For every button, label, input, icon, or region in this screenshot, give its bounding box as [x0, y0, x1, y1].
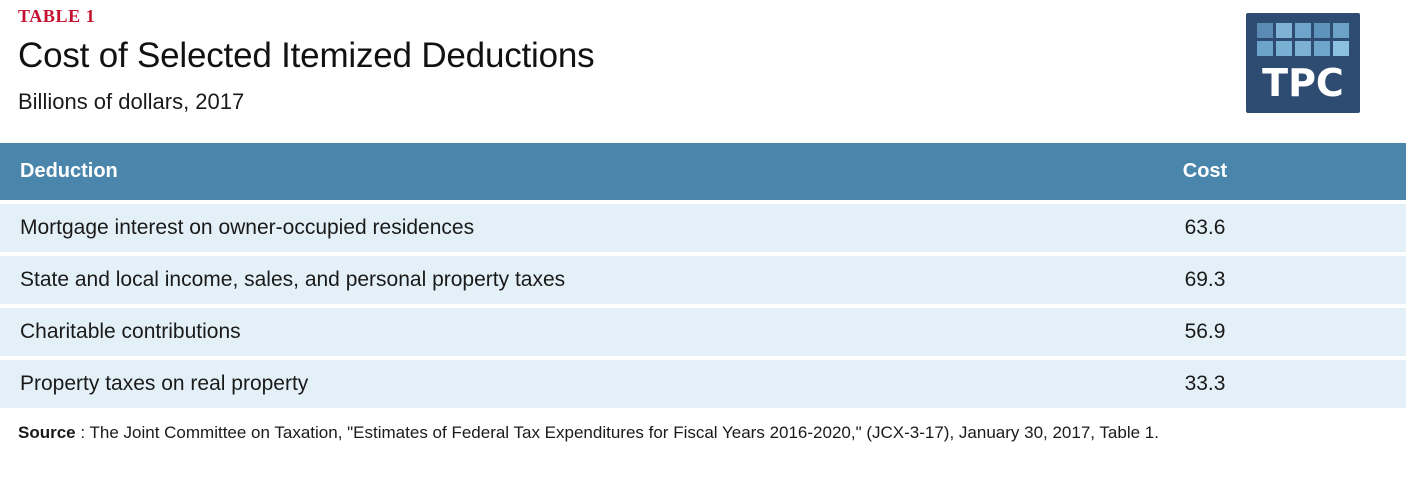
page-title: Cost of Selected Itemized Deductions [18, 36, 594, 76]
logo-grid-cell [1314, 23, 1330, 38]
cell-deduction: State and local income, sales, and perso… [0, 268, 565, 292]
table-row: State and local income, sales, and perso… [0, 256, 1406, 304]
table-body: Mortgage interest on owner-occupied resi… [0, 204, 1406, 408]
logo-grid-cell [1257, 23, 1273, 38]
table-number-label: TABLE 1 [18, 6, 95, 27]
deductions-table: Deduction Cost Mortgage interest on owne… [0, 143, 1406, 408]
table-row: Property taxes on real property33.3 [0, 360, 1406, 408]
cell-cost: 33.3 [1130, 372, 1280, 396]
logo-grid-icon [1257, 23, 1349, 56]
cell-cost: 69.3 [1130, 268, 1280, 292]
source-note: Source : The Joint Committee on Taxation… [18, 419, 1218, 446]
cell-deduction: Property taxes on real property [0, 372, 308, 396]
logo-wordmark: TPC [1246, 61, 1360, 105]
logo-grid-cell [1333, 41, 1349, 56]
logo-grid-cell [1276, 41, 1292, 56]
cell-cost: 63.6 [1130, 216, 1280, 240]
cell-deduction: Mortgage interest on owner-occupied resi… [0, 216, 474, 240]
logo-grid-cell [1333, 23, 1349, 38]
logo-grid-cell [1314, 41, 1330, 56]
table-header-row: Deduction Cost [0, 143, 1406, 200]
column-header-deduction: Deduction [0, 160, 118, 183]
table-row: Mortgage interest on owner-occupied resi… [0, 204, 1406, 252]
logo-grid-cell [1295, 23, 1311, 38]
page-header: TABLE 1 Cost of Selected Itemized Deduct… [0, 0, 1408, 136]
logo-grid-cell [1276, 23, 1292, 38]
logo-grid-cell [1257, 41, 1273, 56]
logo-grid-cell [1295, 41, 1311, 56]
source-text: : The Joint Committee on Taxation, "Esti… [76, 423, 1159, 442]
page-subtitle: Billions of dollars, 2017 [18, 89, 244, 115]
table-row: Charitable contributions56.9 [0, 308, 1406, 356]
column-header-cost: Cost [1130, 160, 1280, 183]
tpc-logo: TPC [1246, 13, 1360, 113]
source-label: Source [18, 423, 76, 442]
cell-deduction: Charitable contributions [0, 320, 241, 344]
cell-cost: 56.9 [1130, 320, 1280, 344]
